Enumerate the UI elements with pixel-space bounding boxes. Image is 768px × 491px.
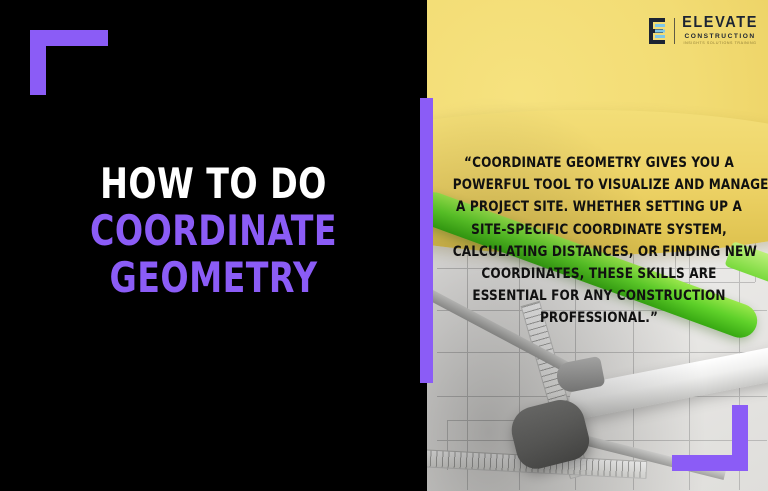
accent-vertical-bar [420, 98, 433, 383]
poster-canvas: HOW TO DO COORDINATE GEOMETRY ELEVATE CO… [0, 0, 768, 491]
title-line-1: HOW TO DO [26, 160, 402, 207]
logo-name: ELEVATE [682, 16, 758, 31]
page-title: HOW TO DO COORDINATE GEOMETRY [0, 160, 427, 301]
quote-line: CALCULATING DISTANCES, OR FINDING NEW [453, 241, 746, 263]
corner-bracket-bottom-right [672, 405, 748, 471]
elevate-construction-logo[interactable]: ELEVATE CONSTRUCTION INSIGHTS SOLUTIONS … [647, 16, 758, 46]
logo-wordmark: ELEVATE CONSTRUCTION INSIGHTS SOLUTIONS … [682, 16, 758, 46]
title-line-2: COORDINATE [26, 207, 402, 254]
logo-divider [674, 18, 675, 44]
quote-line: SITE-SPECIFIC COORDINATE SYSTEM, [453, 219, 746, 241]
quote-line: ESSENTIAL FOR ANY CONSTRUCTION [453, 285, 746, 307]
quote-line: “COORDINATE GEOMETRY GIVES YOU A [453, 152, 746, 174]
quote-line: PROFESSIONAL.” [453, 307, 746, 329]
corner-bracket-top-left [30, 30, 108, 95]
quote-block: “COORDINATE GEOMETRY GIVES YOU A POWERFU… [440, 152, 758, 329]
quote-line: POWERFUL TOOL TO VISUALIZE AND MANAGE [453, 174, 746, 196]
logo-tagline: INSIGHTS SOLUTIONS TRAINING [682, 42, 758, 46]
logo-subtitle: CONSTRUCTION [682, 34, 758, 41]
quote-line: COORDINATES, THESE SKILLS ARE [453, 263, 746, 285]
elevate-e-mark-icon [647, 17, 667, 45]
title-line-3: GEOMETRY [26, 254, 402, 301]
quote-line: A PROJECT SITE. WHETHER SETTING UP A [453, 196, 746, 218]
